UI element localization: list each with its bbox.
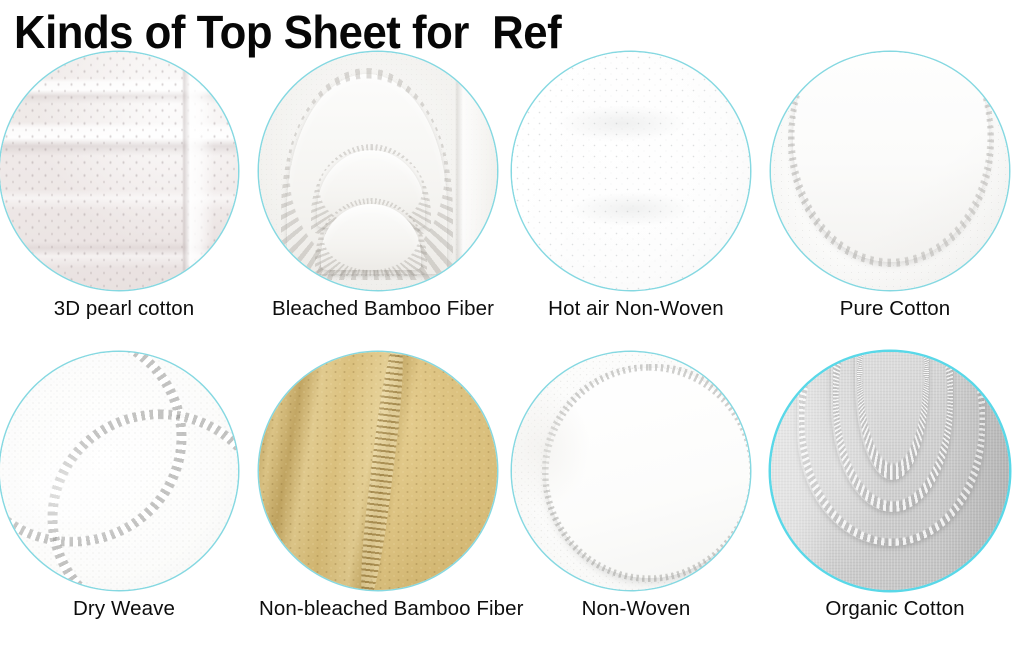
swatch-hot-air-non-woven[interactable] xyxy=(512,52,750,290)
page-title: Kinds of Top Sheet for Ref xyxy=(14,8,561,56)
swatch-label-3d-pearl-cotton: 3D pearl cotton xyxy=(0,297,248,321)
top-sheet-reference-page: Kinds of Top Sheet for Ref 3D pearl cott… xyxy=(0,0,1013,648)
swatch-label-bleached-bamboo-fiber: Bleached Bamboo Fiber xyxy=(259,297,507,321)
swatch-cell-dry-weave[interactable]: Dry Weave xyxy=(0,352,248,621)
swatch-label-pure-cotton: Pure Cotton xyxy=(771,297,1013,321)
swatch-organic-cotton[interactable] xyxy=(771,352,1009,590)
swatch-dry-weave[interactable] xyxy=(0,352,238,590)
swatch-non-woven[interactable] xyxy=(512,352,750,590)
swatch-label-non-bleached-bamboo-fiber: Non-bleached Bamboo Fiber xyxy=(259,597,507,621)
swatch-cell-non-woven[interactable]: Non-Woven xyxy=(512,352,760,621)
swatch-cell-bleached-bamboo-fiber[interactable]: Bleached Bamboo Fiber xyxy=(259,52,507,321)
swatch-cell-pure-cotton[interactable]: Pure Cotton xyxy=(771,52,1013,321)
swatch-cell-organic-cotton[interactable]: Organic Cotton xyxy=(771,352,1013,621)
fabric-highlight xyxy=(0,352,238,590)
swatch-pure-cotton[interactable] xyxy=(771,52,1009,290)
swatch-cell-hot-air-non-woven[interactable]: Hot air Non-Woven xyxy=(512,52,760,321)
swatch-cell-3d-pearl-cotton[interactable]: 3D pearl cotton xyxy=(0,52,248,321)
fabric-shading xyxy=(771,352,1009,590)
swatch-bleached-bamboo-fiber[interactable] xyxy=(259,52,497,290)
swatch-grid: 3D pearl cotton Bleached Bamboo Fiber Ho… xyxy=(0,0,1013,648)
swatch-3d-pearl-cotton[interactable] xyxy=(0,52,238,290)
swatch-label-dry-weave: Dry Weave xyxy=(0,597,248,621)
swatch-label-hot-air-non-woven: Hot air Non-Woven xyxy=(512,297,760,321)
fabric-corner-shadow xyxy=(771,52,1009,290)
fabric-left-shadow xyxy=(512,352,750,590)
swatch-cell-non-bleached-bamboo-fiber[interactable]: Non-bleached Bamboo Fiber xyxy=(259,352,507,621)
swatch-label-organic-cotton: Organic Cotton xyxy=(771,597,1013,621)
fabric-perforation-grid-offset xyxy=(512,52,750,290)
swatch-non-bleached-bamboo-fiber[interactable] xyxy=(259,352,497,590)
fabric-fold-right xyxy=(259,52,497,290)
fabric-seam-highlight xyxy=(0,52,238,290)
swatch-label-non-woven: Non-Woven xyxy=(512,597,760,621)
